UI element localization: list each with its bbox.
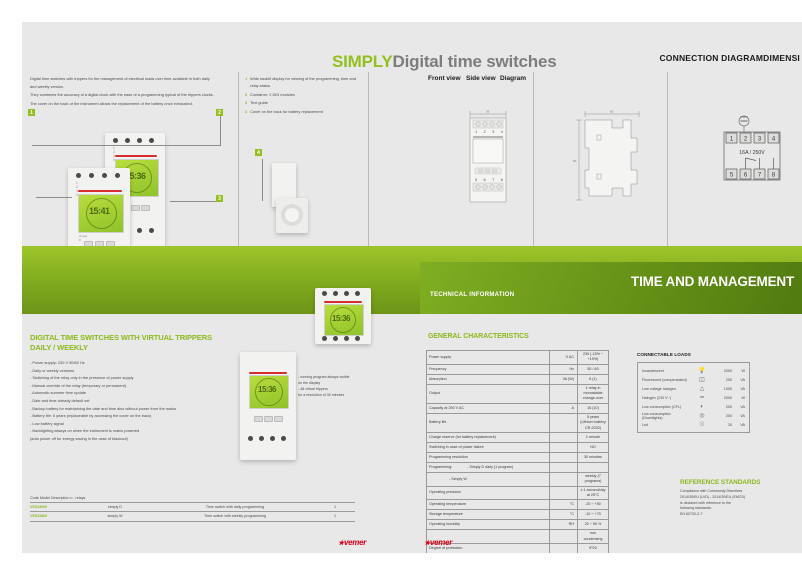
display-time: 15:36	[332, 314, 350, 323]
list-item: - Daily or weekly versions	[30, 367, 215, 375]
spec-label-main: Programming:	[429, 465, 452, 469]
table-row: - Simply W weekly (7 programs)	[427, 472, 609, 486]
table-row: Operating temperature°C-20 ÷ +50	[427, 500, 609, 510]
col-model: Model	[40, 496, 50, 500]
spec-value: NO	[578, 442, 609, 452]
spec-value: 16 (10)	[578, 403, 609, 413]
table-row[interactable]: VE513800 simply W Time switch with weekl…	[30, 512, 355, 521]
divider-diagram-1	[533, 72, 534, 247]
table-row: Power supplyV AC230 (-15% ÷ +10%)	[427, 351, 609, 365]
halogen-lin-icon: ━	[692, 395, 712, 401]
tube-icon: ◫	[692, 377, 712, 383]
band-title: TIME AND MANAGEMENT	[631, 274, 794, 289]
table-row: AbsorptionVA (W)6 (1)	[427, 374, 609, 384]
spec-value: 30 minutes	[578, 452, 609, 462]
halogen-icon: △	[692, 386, 712, 392]
table-row: Programming resolution30 minutes	[427, 452, 609, 462]
product-model: simply W	[75, 514, 155, 518]
general-characteristics-title: GENERAL CHARACTERISTICS	[428, 333, 529, 340]
spec-label: Switching in case of power failure	[427, 442, 550, 452]
spec-sublabel: - Simply D daily (1 program)	[467, 465, 513, 470]
intro-paragraph: Digital time switches with trippers for …	[30, 75, 230, 108]
table-row[interactable]: VE513000 simply D Time switch with daily…	[30, 502, 355, 511]
reference-standards-title: REFERENCE STANDARDS	[680, 479, 760, 486]
spec-label: Programming resolution	[427, 452, 550, 462]
spec-sublabel: - Simply W	[427, 472, 550, 486]
table-row: Led ☉ 30 VA	[642, 420, 745, 429]
bulb-icon: 💡	[692, 368, 712, 374]
spec-unit: Hz	[550, 364, 578, 374]
bottom-margin	[0, 553, 802, 567]
svg-text:36: 36	[486, 110, 490, 114]
load-value: 30	[712, 423, 732, 427]
technical-information-label: TECHNICAL INFORMATION	[430, 292, 514, 298]
spec-label: Output	[427, 384, 550, 403]
list-item: - Date and time already default set	[30, 397, 215, 405]
load-unit: VA	[732, 423, 745, 427]
load-name: Halogen (230 V~)	[642, 396, 692, 400]
divider-diagram-2	[667, 72, 668, 247]
features-list: - Power supply: 230 V 50/60 Hz - Daily o…	[30, 359, 215, 443]
callout-1: 1	[28, 109, 35, 116]
load-value: 1000	[712, 387, 732, 391]
table-row: Capacity at 250 V ACA16 (10)	[427, 403, 609, 413]
section-heading: DIGITAL TIME SWITCHES WITH VIRTUAL TRIPP…	[30, 333, 230, 353]
table-row: Programming: - Simply D daily (1 program…	[427, 462, 609, 472]
page-title: SIMPLYDigital time switches	[332, 52, 557, 72]
bullet-number: 4	[245, 108, 247, 115]
feature-callout-list: 1 Wide backlit display for viewing of th…	[245, 75, 360, 116]
general-characteristics-table: Power supplyV AC230 (-15% ÷ +10%) Freque…	[426, 350, 609, 554]
load-name: Low voltage halogen	[642, 387, 692, 391]
col-desc: Description	[51, 496, 69, 500]
product-model: simply D	[75, 505, 155, 509]
table-row: Low voltage halogen △ 1000 VA	[642, 384, 745, 393]
section-heading-line1: DIGITAL TIME SWITCHES WITH VIRTUAL TRIPP…	[30, 333, 230, 343]
product-code: VE513000	[30, 505, 75, 509]
leader-line-2	[220, 112, 221, 146]
load-unit: VA	[732, 387, 745, 391]
downlight-icon: ◎	[692, 413, 712, 419]
list-item: (auto power off for energy saving in the…	[30, 435, 215, 443]
load-unit: VA	[732, 405, 745, 409]
left-margin	[0, 0, 22, 567]
spec-label: Operating precision	[427, 486, 550, 500]
spec-value: 20 ÷ 90 %	[578, 520, 609, 530]
bullet-text: Cover on the back for battery replacemen…	[250, 108, 323, 115]
leader-line-1	[32, 145, 220, 146]
product-relays: 1	[315, 505, 355, 509]
svg-text:5 6 7 8: 5 6 7 8	[475, 177, 505, 182]
spec-value: ± 1 second/day at 25°C	[578, 486, 609, 500]
display-time: 15:36	[258, 385, 276, 394]
intro-line-0: Digital time switches with trippers for …	[30, 75, 230, 82]
spec-label: Charge reserve (for battery replacement)	[427, 432, 550, 442]
front-view-label: Front view	[428, 75, 461, 82]
table-row: non condensing	[427, 530, 609, 544]
load-value: 250	[712, 378, 732, 382]
list-item: - Power supply: 230 V 50/60 Hz	[30, 359, 215, 367]
side-view-drawing: 60 90	[567, 108, 657, 208]
rating-label: 16A / 250V	[739, 150, 765, 156]
callout-4: 4	[255, 149, 262, 156]
table-row: Low consumption (Downlights) ◎ 200 VA	[642, 411, 745, 420]
svg-text:90: 90	[573, 159, 577, 163]
logo-left: ★vemer	[338, 538, 366, 547]
product-description: Time switch with weekly programming	[155, 514, 315, 518]
table-row: Battery life5 years (Lithium battery CR-…	[427, 413, 609, 432]
top-margin	[0, 0, 802, 22]
spec-value: 5 years (Lithium battery CR-2032)	[578, 413, 609, 432]
list-item: - Automatic summer time update	[30, 389, 215, 397]
spec-unit: °C	[550, 500, 578, 510]
load-name: Incandescent	[642, 369, 692, 373]
bullet-text: Text guide	[250, 99, 268, 106]
col-code: Code	[30, 496, 39, 500]
list-item: - Low battery signal	[30, 420, 215, 428]
list-item: - Backup battery for maintaining the dat…	[30, 405, 215, 413]
spec-label: Operating temperature	[427, 500, 550, 510]
table-row: Operating humidityRH20 ÷ 90 %	[427, 520, 609, 530]
spec-label: Programming: - Simply D daily (1 program…	[427, 462, 550, 472]
ordering-table: Code Model Description n . relays VE5130…	[30, 496, 355, 521]
load-unit: VA	[732, 378, 745, 382]
list-item: - Switching of the relay only in the pre…	[30, 374, 215, 382]
spec-unit	[550, 530, 578, 544]
load-value: 200	[712, 414, 732, 418]
front-view-drawing: 36 1 2 3 4 5 6 7 8	[448, 108, 528, 208]
intro-line-3: The cover on the back of the instrument …	[30, 100, 230, 107]
product-relays: 1	[315, 514, 355, 518]
side-view-label: Side view	[466, 75, 496, 82]
spec-unit: VA (W)	[550, 374, 578, 384]
list-item: for a resolution of 30 minutes	[298, 393, 393, 399]
svg-text:1 2 3 4: 1 2 3 4	[475, 129, 505, 134]
table-row: Low consumption (CFL) ◐ 200 VA	[642, 402, 745, 411]
header-right-label: CONNECTION DIAGRAMDIMENSI	[659, 53, 800, 63]
load-name: Low consumption (Downlights)	[642, 412, 692, 420]
list-item: 3 Text guide	[245, 99, 360, 106]
list-item: 2 Container: 2 DIN modules	[245, 91, 360, 98]
section-heading-line2: DAILY / WEEKLY	[30, 343, 230, 353]
led-icon: ☉	[692, 422, 712, 428]
connectable-loads-box: Incandescent 💡 2000 W Fluorescent (compe…	[637, 362, 750, 433]
spec-unit	[550, 413, 578, 432]
table-row: Fluorescent (compensated) ◫ 250 VA	[642, 375, 745, 384]
bullet-text: Container: 2 DIN modules	[250, 91, 295, 98]
load-name: Low consumption (CFL)	[642, 405, 692, 409]
product-description: Time switch with daily programming	[155, 505, 315, 509]
table-row: Incandescent 💡 2000 W	[642, 366, 745, 375]
title-text: Digital time switches	[393, 52, 557, 71]
spec-unit: A	[550, 403, 578, 413]
load-unit: W	[732, 369, 745, 373]
table-row: Operating precision± 1 second/day at 25°…	[427, 486, 609, 500]
spec-value: 6 (1)	[578, 374, 609, 384]
catalog-page: SIMPLYDigital time switches CONNECTION D…	[0, 0, 802, 567]
standards-line: EN 60730-2-7	[680, 512, 785, 518]
table-rule	[30, 521, 355, 522]
product-code: VE513800	[30, 514, 75, 518]
spec-unit	[550, 462, 578, 472]
spec-label: Absorption	[427, 374, 550, 384]
load-name: Led	[642, 423, 692, 427]
col-relays: n . relays	[70, 496, 85, 500]
spec-unit	[550, 384, 578, 403]
spec-label: Battery life	[427, 413, 550, 432]
diagram-label: Diagram	[500, 75, 526, 82]
table-row: Output1 relay in monostable change-over	[427, 384, 609, 403]
logo-text: vemer	[344, 538, 366, 547]
load-value: 200	[712, 405, 732, 409]
table-row: Storage temperature°C-10 ÷ +70	[427, 510, 609, 520]
leader-line-3	[36, 197, 72, 198]
spec-value: 230 (-15% ÷ +10%)	[578, 351, 609, 365]
spec-label: Power supply	[427, 351, 550, 365]
divider-intro	[238, 72, 239, 247]
spec-unit	[550, 486, 578, 500]
spec-value: -10 ÷ +70	[578, 510, 609, 520]
table-row: Halogen (230 V~) ━ 2000 W	[642, 393, 745, 402]
spec-value: 1 relay in monostable change-over	[578, 384, 609, 403]
intro-line-2: They combines the accuracy of a digital …	[30, 91, 230, 98]
spec-unit: V AC	[550, 351, 578, 365]
cfl-icon: ◐	[692, 404, 712, 410]
load-unit: W	[732, 396, 745, 400]
spec-value: -20 ÷ +50	[578, 500, 609, 510]
list-item: - Battery life: 5 years (replaceable by …	[30, 412, 215, 420]
load-name: Fluorescent (compensated)	[642, 378, 692, 382]
spec-label: Operating humidity	[427, 520, 550, 530]
table-row: FrequencyHz50 / 60	[427, 364, 609, 374]
list-item: 4 Cover on the back for battery replacem…	[245, 108, 360, 115]
spec-unit: RH	[550, 520, 578, 530]
list-item: - Backlighting always on when the instru…	[30, 427, 215, 435]
spec-value: 50 / 60	[578, 364, 609, 374]
connectable-loads-title: CONNECTABLE LOADS	[637, 352, 691, 357]
divider-bullets	[368, 72, 369, 247]
spec-value	[578, 462, 609, 472]
spec-value: 1 minute	[578, 432, 609, 442]
spec-label: Storage temperature	[427, 510, 550, 520]
display-time: 15:41	[89, 206, 110, 216]
load-value: 2000	[712, 369, 732, 373]
bullet-number: 3	[245, 99, 247, 106]
spec-label: Capacity at 250 V AC	[427, 403, 550, 413]
reference-standards-body: Compliance with Community Directives 201…	[680, 489, 785, 518]
svg-text:60: 60	[610, 110, 614, 114]
bullet-number: 2	[245, 91, 247, 98]
intro-line-1: and weekly version.	[30, 83, 230, 90]
callout-2: 2	[216, 109, 223, 116]
connection-diagram: 1 2 3 4 5 6 7 8 16A / 250V	[716, 114, 788, 190]
spec-unit	[550, 452, 578, 462]
spec-unit: °C	[550, 510, 578, 520]
leader-line-4	[170, 201, 222, 202]
bullet-number: 1	[245, 75, 247, 89]
callout-3: 3	[216, 195, 223, 202]
mini-features-list: - running program always visible on the …	[298, 375, 393, 399]
brand-name: SIMPLY	[332, 52, 393, 71]
spec-unit	[550, 432, 578, 442]
logo-text: vemer	[430, 538, 452, 547]
load-value: 2000	[712, 396, 732, 400]
table-row: Switching in case of power failureNO	[427, 442, 609, 452]
load-unit: VA	[732, 414, 745, 418]
leader-line-5	[262, 159, 263, 201]
page-header: SIMPLYDigital time switches CONNECTION D…	[0, 22, 802, 62]
spec-label: Frequency	[427, 364, 550, 374]
table-row: Charge reserve (for battery replacement)…	[427, 432, 609, 442]
spec-value: non condensing	[578, 530, 609, 544]
list-item: 1 Wide backlit display for viewing of th…	[245, 75, 360, 89]
spec-unit	[550, 442, 578, 452]
bullet-text: Wide backlit display for viewing of the …	[250, 75, 360, 89]
spec-value: weekly (7 programs)	[578, 472, 609, 486]
spec-unit	[550, 472, 578, 486]
list-item: - Manual override of the relay (temporar…	[30, 382, 215, 390]
logo-right: ★vemer	[424, 538, 452, 547]
